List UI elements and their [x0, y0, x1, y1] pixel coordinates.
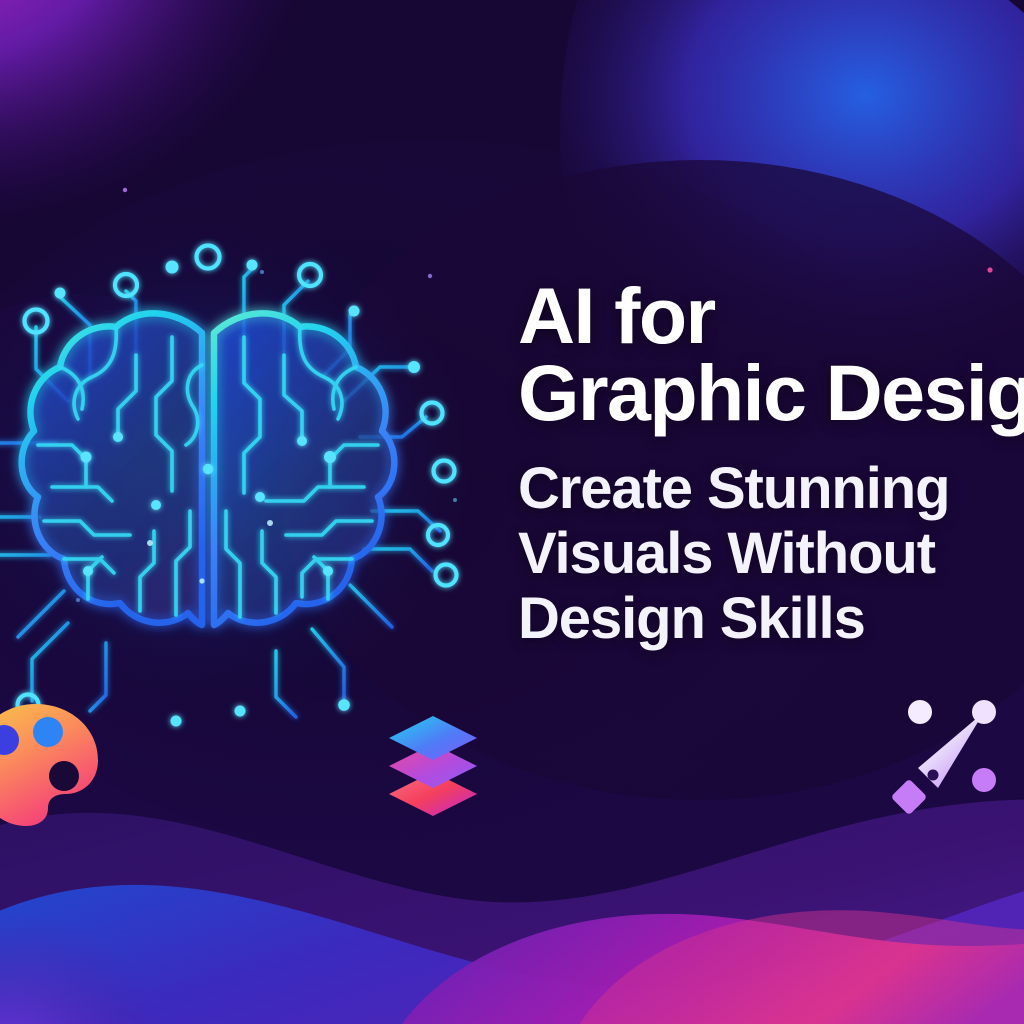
paint-palette-icon	[0, 698, 106, 830]
promo-banner: AI for Graphic Design Create Stunning Vi…	[0, 0, 1024, 1024]
subhead-line-3: Design Skills	[518, 587, 1024, 652]
subhead-line-1: Create Stunning	[518, 457, 1024, 522]
pen-tool-icon	[884, 694, 1012, 822]
subhead-line-2: Visuals Without	[518, 522, 1024, 587]
circuit-brain-artwork	[0, 205, 480, 725]
headline-line-2: Graphic Design	[518, 355, 1024, 432]
text-block: AI for Graphic Design Create Stunning Vi…	[518, 278, 1024, 652]
headline-line-1: AI for	[518, 278, 1024, 355]
layers-icon	[381, 714, 485, 818]
